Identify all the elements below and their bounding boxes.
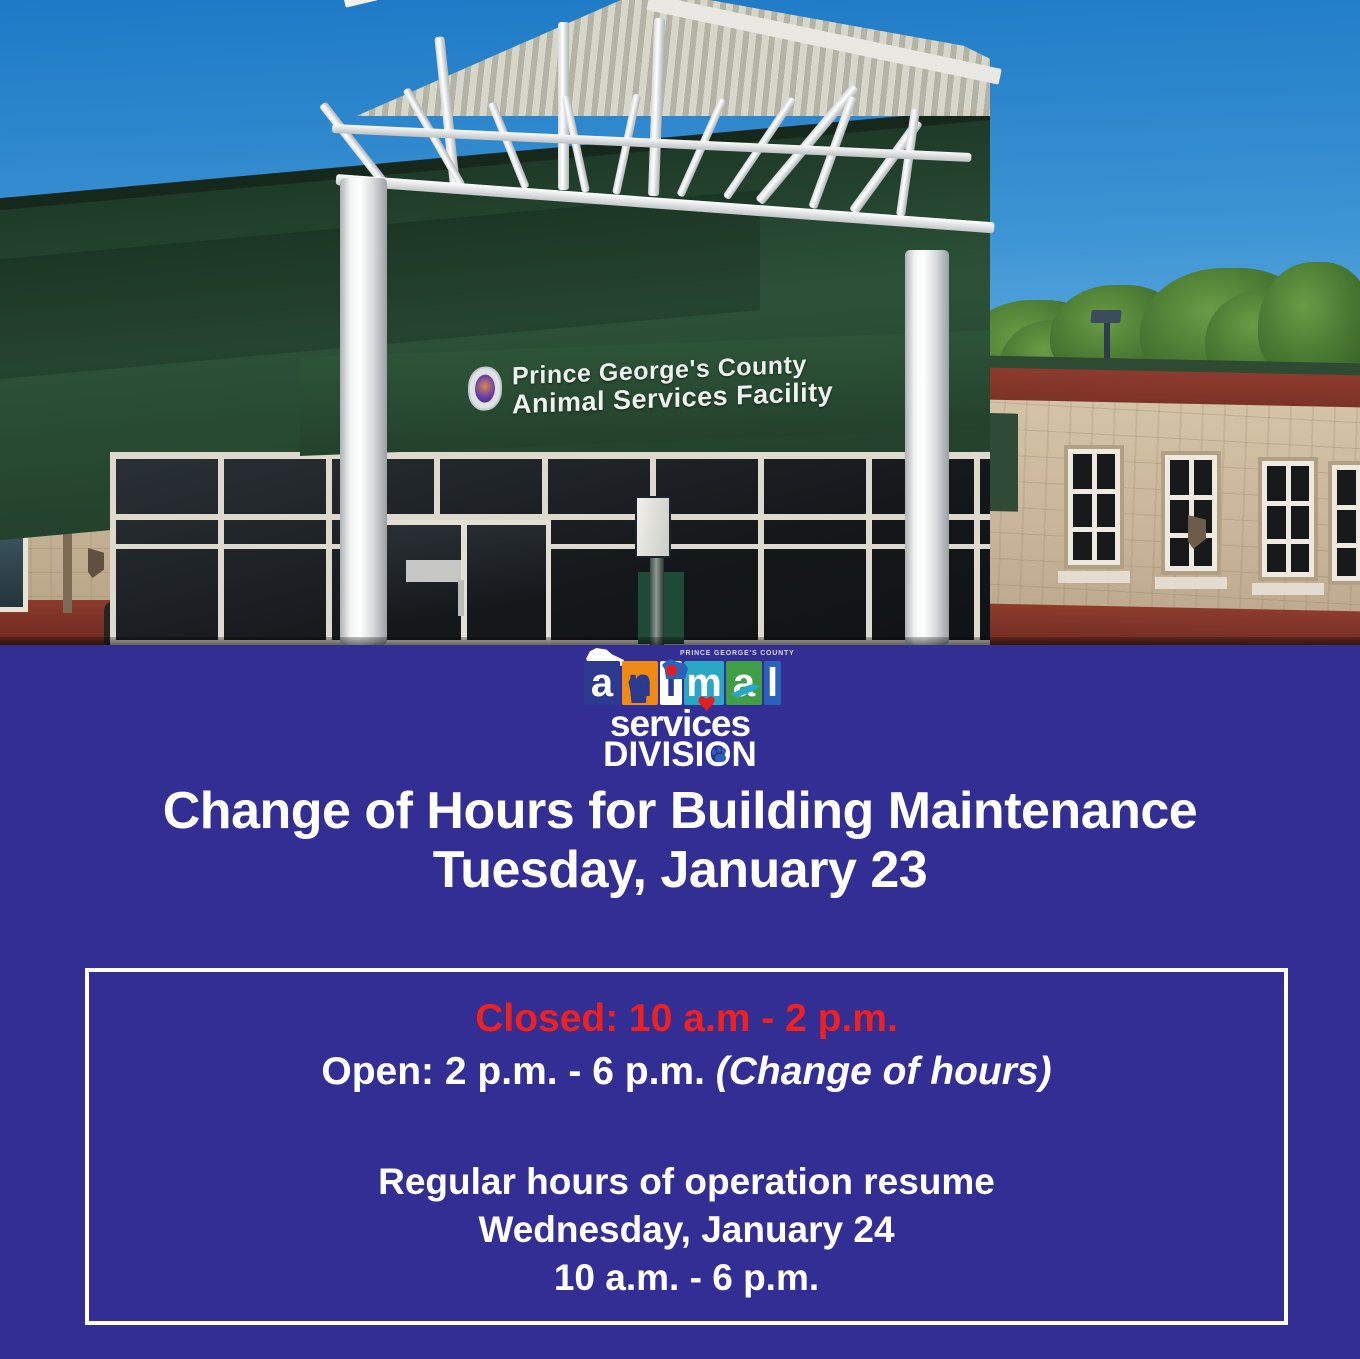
door-pull-handle — [458, 580, 464, 616]
open-hours-line: Open: 2 p.m. - 6 p.m. (Change of hours) — [89, 1049, 1284, 1096]
open-hours-main: Open: 2 p.m. - 6 p.m. — [321, 1050, 715, 1093]
truss-strut — [896, 108, 920, 216]
truss-bottom-chord — [336, 174, 995, 233]
open-hours-note: (Change of hours) — [716, 1050, 1052, 1093]
county-seal-icon — [468, 366, 502, 411]
headline-line1: Change of Hours for Building Maintenance — [163, 782, 1197, 840]
top-rail — [110, 452, 990, 459]
logo-letter-l: l — [764, 661, 781, 705]
resume-hours-block: Regular hours of operation resume Wednes… — [89, 1158, 1284, 1302]
window — [1165, 455, 1217, 571]
canopy-column — [905, 250, 949, 645]
window — [1332, 465, 1360, 581]
main-entrance-label — [406, 560, 462, 582]
paw-print-icon — [712, 747, 729, 763]
hours-box: Closed: 10 a.m - 2 p.m. Open: 2 p.m. - 6… — [85, 968, 1288, 1325]
light-pole-head — [1090, 310, 1121, 323]
logo-letter-a2: a — [726, 661, 762, 705]
glass-storefront — [110, 452, 990, 645]
logo-division-text: DIVISION — [576, 737, 784, 772]
animal-services-division-logo: PRINCE GEORGE'S COUNTY a n i m a l servi… — [0, 647, 1360, 777]
window-sill — [1252, 583, 1324, 595]
facility-photo: Prince George's County Animal Services F… — [0, 0, 1360, 645]
info-panel: PRINCE GEORGE'S COUNTY a n i m a l servi… — [0, 645, 1360, 1359]
county-caption: PRINCE GEORGE'S COUNTY — [680, 650, 795, 657]
window — [1262, 461, 1314, 577]
animal-wordmark: a n i m a l — [576, 661, 784, 707]
photo-bottom-shadow — [0, 637, 1360, 645]
right-building-wing — [960, 355, 1360, 645]
page-title: Change of Hours for Building Maintenance… — [0, 782, 1360, 901]
headline-line2: Tuesday, January 23 — [0, 841, 1360, 900]
resume-line1: Regular hours of operation resume — [89, 1158, 1284, 1206]
resume-line3: 10 a.m. - 6 p.m. — [89, 1254, 1284, 1302]
canopy-column — [340, 178, 387, 645]
resume-line2: Wednesday, January 24 — [89, 1206, 1284, 1254]
logo-letter-a: a — [584, 661, 620, 705]
window — [1068, 449, 1120, 565]
info-sign — [635, 496, 671, 558]
closed-hours-line: Closed: 10 a.m - 2 p.m. — [89, 996, 1284, 1043]
announcement-poster: Prince George's County Animal Services F… — [0, 0, 1360, 1359]
window-sill — [1058, 571, 1130, 583]
entry-canopy — [330, 0, 990, 236]
window-sill — [1155, 577, 1227, 589]
facility-sign-text: Prince George's County Animal Services F… — [512, 351, 833, 419]
red-dot-icon — [666, 665, 677, 676]
